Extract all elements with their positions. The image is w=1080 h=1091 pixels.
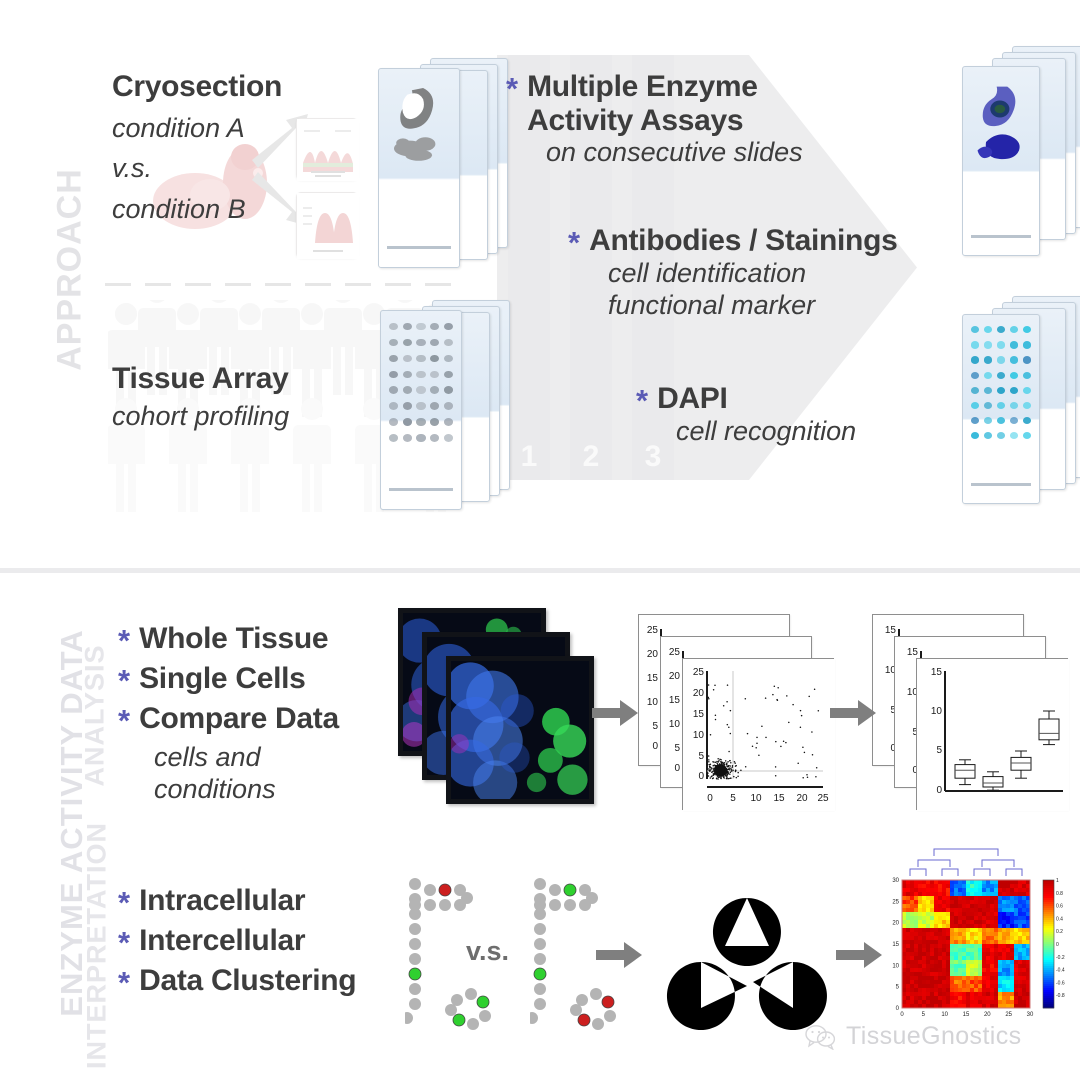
analysis-bullet-label: Whole Tissue (139, 622, 328, 656)
scatter-card-front: 252015 1050 0510 152025 (682, 658, 834, 810)
slide-label-lines (389, 488, 453, 491)
antibodies-text-block: * Antibodies / Stainings cell identifica… (568, 224, 968, 322)
svg-text:15: 15 (693, 709, 705, 720)
tissue-core-dot (997, 402, 1006, 409)
svg-text:0: 0 (698, 771, 704, 782)
svg-text:15: 15 (647, 673, 659, 684)
slide-front (962, 314, 1040, 504)
correlation-heatmap: 051015202530510152025300 10.80.60.40.20-… (880, 832, 1076, 1032)
interpretation-bullet-1: * Intercellular (118, 924, 356, 958)
svg-text:0: 0 (936, 785, 942, 796)
tissue-core-dot (971, 372, 980, 379)
svg-text:10: 10 (750, 793, 762, 804)
fluorescence-image-front (446, 656, 594, 804)
tissue-core-dot (1023, 341, 1032, 348)
svg-text:10: 10 (941, 1012, 948, 1018)
cryosection-title: Cryosection (112, 70, 282, 104)
svg-text:25: 25 (817, 793, 829, 804)
enzyme-assay-text-block: * Multiple Enzyme Activity Assays on con… (506, 70, 936, 169)
tissue-core-dot (389, 434, 398, 442)
tissue-core-dot (416, 323, 425, 331)
slide-label-lines (971, 483, 1032, 486)
assay-subtitle: on consecutive slides (546, 137, 936, 169)
svg-text:10: 10 (669, 719, 681, 730)
tissue-array-dot-grid (389, 323, 453, 442)
versus-label: v.s. (466, 936, 509, 967)
svg-text:0: 0 (900, 1012, 904, 1018)
tissue-core-dot (389, 371, 398, 379)
tissue-core-dot (444, 434, 453, 442)
interpretation-bullet-2: * Data Clustering (118, 964, 356, 998)
tissue-core-dot (1010, 432, 1019, 439)
cryosection-vs: v.s. (112, 153, 282, 185)
svg-text:20: 20 (647, 649, 659, 660)
tissue-core-dot (984, 417, 993, 424)
slide-front (380, 310, 462, 510)
tissue-core-dot (430, 386, 439, 394)
svg-text:10: 10 (892, 963, 899, 969)
assay-title-line2: Activity Assays (527, 104, 743, 137)
tissue-core-dot (1010, 417, 1019, 424)
svg-text:30: 30 (892, 878, 899, 884)
svg-text:20: 20 (984, 1012, 991, 1018)
tissue-core-dot (416, 386, 425, 394)
scatter-plot: 252015 1050 0510 152025 (683, 659, 835, 811)
watermark-text: TissueGnostics (846, 1022, 1022, 1051)
svg-text:0: 0 (674, 763, 680, 774)
svg-text:0.4: 0.4 (1056, 916, 1063, 922)
tissue-core-dot (1010, 341, 1019, 348)
arrow-right-icon-2 (830, 698, 876, 728)
svg-text:10: 10 (647, 697, 659, 708)
tissue-core-dot (403, 386, 412, 394)
arrow-right-icon-1 (592, 698, 638, 728)
analysis-bullet-label: Compare Data (139, 702, 339, 736)
cryosection-text-block: Cryosection condition A v.s. condition B (112, 70, 282, 226)
wechat-icon (805, 1024, 837, 1050)
svg-text:0.6: 0.6 (1056, 904, 1063, 910)
svg-text:0.2: 0.2 (1056, 929, 1063, 935)
section-divider (0, 568, 1080, 573)
tissue-array-title: Tissue Array (112, 362, 289, 396)
svg-text:15: 15 (773, 793, 785, 804)
svg-text:5: 5 (936, 745, 942, 756)
tissue-core-dot (430, 418, 439, 426)
cryosection-condition-a: condition A (112, 113, 282, 145)
svg-text:15: 15 (907, 647, 919, 658)
svg-text:20: 20 (796, 793, 808, 804)
analysis-subtitle-2: conditions (154, 774, 339, 806)
tissue-core-dot (1023, 417, 1032, 424)
tissue-core-dot (430, 339, 439, 347)
svg-text:0: 0 (896, 1006, 900, 1012)
tissue-core-dot (430, 434, 439, 442)
analysis-bullet-0: * Whole Tissue (118, 622, 339, 656)
tissue-core-dot (1023, 326, 1032, 333)
svg-text:-0.4: -0.4 (1056, 968, 1065, 974)
svg-text:5: 5 (896, 985, 900, 991)
svg-text:20: 20 (693, 688, 705, 699)
svg-text:5: 5 (730, 793, 736, 804)
svg-text:15: 15 (892, 942, 899, 948)
tissue-core-dot (1023, 372, 1032, 379)
tissue-core-dot (1010, 356, 1019, 363)
tissue-core-dot (403, 434, 412, 442)
tissue-core-dot (984, 372, 993, 379)
tissue-core-dot (997, 372, 1006, 379)
asterisk-bullet-icon: * (118, 665, 130, 696)
analysis-bullet-2: * Compare Data (118, 702, 339, 736)
box-plot: 151050 (917, 659, 1069, 811)
tissue-core-dot (430, 323, 439, 331)
svg-text:5: 5 (698, 751, 704, 762)
svg-text:0: 0 (707, 793, 713, 804)
tissue-core-dot (984, 432, 993, 439)
tissue-core-dot (1010, 387, 1019, 394)
svg-text:-0.8: -0.8 (1056, 993, 1065, 999)
tissue-core-dot (971, 402, 980, 409)
svg-text:5: 5 (674, 743, 680, 754)
svg-text:25: 25 (693, 667, 705, 678)
tissue-core-dot (416, 371, 425, 379)
tissue-core-dot (1023, 387, 1032, 394)
tissue-core-dot (389, 418, 398, 426)
tissue-core-dot (984, 356, 993, 363)
analysis-subtitle-1: cells and (154, 742, 339, 774)
tissue-core-dot (403, 339, 412, 347)
tissue-thumbnail-condition-b (296, 192, 358, 258)
tissue-core-dot (416, 355, 425, 363)
assay-title-line1: Multiple Enzyme (527, 70, 758, 103)
slide-front (962, 66, 1040, 256)
dapi-title: DAPI (657, 382, 727, 416)
kanizsa-triangle-illusion (665, 890, 830, 1030)
watermark: TissueGnostics (805, 1022, 1022, 1051)
tissue-core-dot (444, 386, 453, 394)
svg-text:-0.6: -0.6 (1056, 980, 1065, 986)
slide-label-lines (387, 246, 451, 249)
svg-text:15: 15 (931, 667, 943, 678)
svg-text:15: 15 (885, 625, 897, 636)
section-label-approach: APPROACH (51, 120, 90, 420)
antibodies-title: Antibodies / Stainings (589, 224, 897, 258)
asterisk-bullet-icon: * (118, 705, 130, 736)
cryosection-condition-b: condition B (112, 194, 282, 226)
tissue-core-dot (444, 402, 453, 410)
tissue-core-dot (971, 341, 980, 348)
tissue-core-dot (971, 417, 980, 424)
svg-text:25: 25 (669, 647, 681, 658)
dapi-text-block: * DAPI cell recognition (636, 382, 966, 448)
tissue-core-dot (444, 355, 453, 363)
svg-text:5: 5 (652, 721, 658, 732)
asterisk-bullet-icon: * (118, 887, 130, 918)
svg-text:0: 0 (1056, 942, 1059, 948)
interpretation-bullet-0: * Intracellular (118, 884, 356, 918)
tissue-core-dot (403, 371, 412, 379)
tissue-core-dot (971, 387, 980, 394)
interpretation-bullet-label: Intercellular (139, 924, 305, 958)
tissue-core-dot (430, 355, 439, 363)
svg-text:15: 15 (669, 695, 681, 706)
analysis-bullet-label: Single Cells (139, 662, 305, 696)
tissue-core-dot (997, 417, 1006, 424)
svg-text:25: 25 (1005, 1012, 1012, 1018)
tissue-core-dot (1023, 432, 1032, 439)
svg-text:15: 15 (963, 1012, 970, 1018)
tissue-core-dot (984, 326, 993, 333)
asterisk-bullet-icon: * (506, 73, 518, 104)
tissue-core-dot (997, 387, 1006, 394)
antibodies-subtitle-2: functional marker (608, 290, 968, 322)
tissue-core-dot (997, 326, 1006, 333)
tissue-core-dot (389, 402, 398, 410)
tissue-core-dot (416, 418, 425, 426)
tissue-core-dot (430, 371, 439, 379)
section-label-analysis: ANALYSIS (80, 601, 111, 831)
svg-text:-0.2: -0.2 (1056, 955, 1065, 961)
dapi-stained-specimen-icon (969, 76, 1033, 182)
dapi-subtitle: cell recognition (676, 416, 966, 448)
tissue-core-dot (403, 323, 412, 331)
analysis-text-block: * Whole Tissue * Single Cells * Compare … (118, 622, 339, 806)
interpretation-bullet-label: Data Clustering (139, 964, 356, 998)
tissue-core-dot (389, 386, 398, 394)
tissue-core-dot (389, 355, 398, 363)
antibodies-subtitle-1: cell identification (608, 258, 968, 290)
arrow-right-icon-4 (836, 940, 882, 970)
stained-array-dot-grid (971, 326, 1032, 439)
arrow-right-icon-3 (596, 940, 642, 970)
tissue-core-dot (444, 323, 453, 331)
svg-text:5: 5 (922, 1012, 926, 1018)
analysis-bullet-1: * Single Cells (118, 662, 339, 696)
slide-label-lines (971, 235, 1032, 238)
dashed-divider (105, 283, 455, 286)
tissue-core-dot (984, 387, 993, 394)
svg-text:10: 10 (693, 730, 705, 741)
asterisk-bullet-icon: * (568, 227, 580, 258)
tissue-core-dot (444, 371, 453, 379)
tissue-array-text-block: Tissue Array cohort profiling (112, 362, 289, 432)
tissue-core-dot (1010, 372, 1019, 379)
asterisk-bullet-icon: * (118, 927, 130, 958)
svg-text:25: 25 (892, 899, 899, 905)
tissue-core-dot (444, 418, 453, 426)
tissue-core-dot (971, 356, 980, 363)
tissue-core-dot (403, 402, 412, 410)
tissue-core-dot (389, 339, 398, 347)
cryosection-specimen-icon (385, 79, 452, 191)
box-card-front: 151050 (916, 658, 1068, 810)
workflow-poster: APPROACH ENZYME ACTIVITY DATA ANALYSIS I… (0, 0, 1080, 1080)
svg-text:0: 0 (652, 741, 658, 752)
tissue-core-dot (1010, 402, 1019, 409)
tissue-core-dot (1023, 402, 1032, 409)
svg-text:0.8: 0.8 (1056, 891, 1063, 897)
tissue-core-dot (997, 341, 1006, 348)
tissue-core-dot (403, 418, 412, 426)
tissue-core-dot (1010, 326, 1019, 333)
tissue-core-dot (403, 355, 412, 363)
asterisk-bullet-icon: * (118, 625, 130, 656)
interpretation-bullet-label: Intracellular (139, 884, 305, 918)
section-label-interpretation: INTERPRETATION (82, 801, 113, 1091)
svg-text:10: 10 (931, 706, 943, 717)
tissue-core-dot (971, 432, 980, 439)
tissue-thumbnail-condition-a (296, 118, 358, 180)
tissue-core-dot (984, 341, 993, 348)
svg-text:30: 30 (1027, 1012, 1034, 1018)
svg-text:20: 20 (892, 921, 899, 927)
asterisk-bullet-icon: * (636, 385, 648, 416)
tissue-core-dot (444, 339, 453, 347)
interpretation-text-block: * Intracellular * Intercellular * Data C… (118, 884, 356, 998)
slide-front (378, 68, 460, 268)
tissue-core-dot (416, 434, 425, 442)
svg-text:20: 20 (669, 671, 681, 682)
tissue-array-subtitle: cohort profiling (112, 401, 289, 433)
tissue-core-dot (1023, 356, 1032, 363)
tissue-core-dot (430, 402, 439, 410)
svg-text:1: 1 (1056, 878, 1059, 884)
tissue-core-dot (997, 432, 1006, 439)
tissue-core-dot (984, 402, 993, 409)
tissue-core-dot (389, 323, 398, 331)
tissue-core-dot (997, 356, 1006, 363)
tissue-core-dot (416, 402, 425, 410)
svg-text:25: 25 (647, 625, 659, 636)
tissue-core-dot (416, 339, 425, 347)
asterisk-bullet-icon: * (118, 967, 130, 998)
tissue-core-dot (971, 326, 980, 333)
